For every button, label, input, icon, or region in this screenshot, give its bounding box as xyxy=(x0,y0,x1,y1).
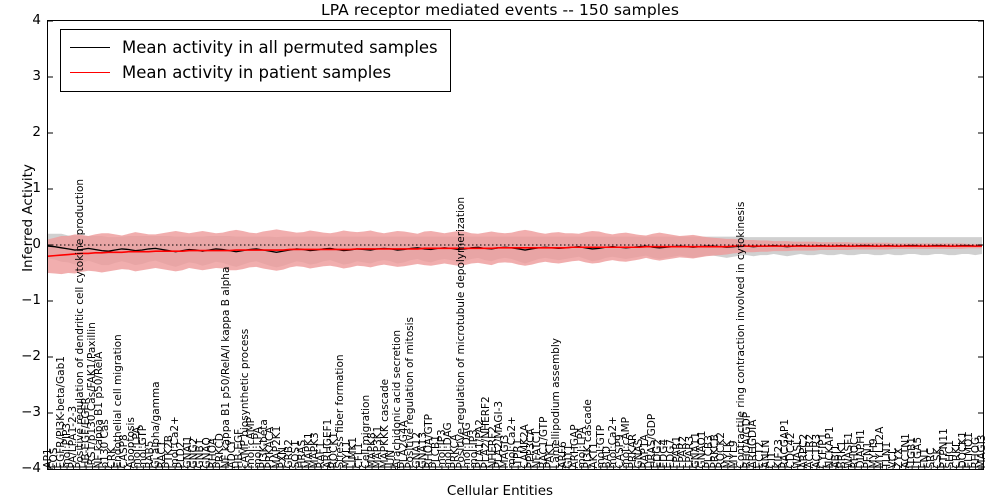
y-axis-label: Inferred Activity xyxy=(20,98,36,338)
legend: Mean activity in all permuted samples Me… xyxy=(60,29,451,92)
legend-item-patient: Mean activity in patient samples xyxy=(70,60,438,85)
legend-label-patient: Mean activity in patient samples xyxy=(122,63,391,82)
x-tick-label: MAGI3 xyxy=(977,434,988,468)
legend-item-permuted: Mean activity in all permuted samples xyxy=(70,35,438,60)
y-tick-label: −4 xyxy=(0,460,41,476)
legend-swatch-permuted xyxy=(70,47,110,48)
y-tick-label: −2 xyxy=(0,348,41,364)
y-tick-label: −3 xyxy=(0,404,41,420)
legend-swatch-patient xyxy=(70,72,110,73)
legend-label-permuted: Mean activity in all permuted samples xyxy=(122,38,438,57)
x-axis-label: Cellular Entities xyxy=(0,483,1000,499)
y-tick-label: 3 xyxy=(0,68,41,84)
chart-root: LPA receptor mediated events -- 150 samp… xyxy=(0,0,1000,500)
x-tick-label: NF kappa B1 p50/RelA/I kappa B alpha xyxy=(221,266,232,468)
